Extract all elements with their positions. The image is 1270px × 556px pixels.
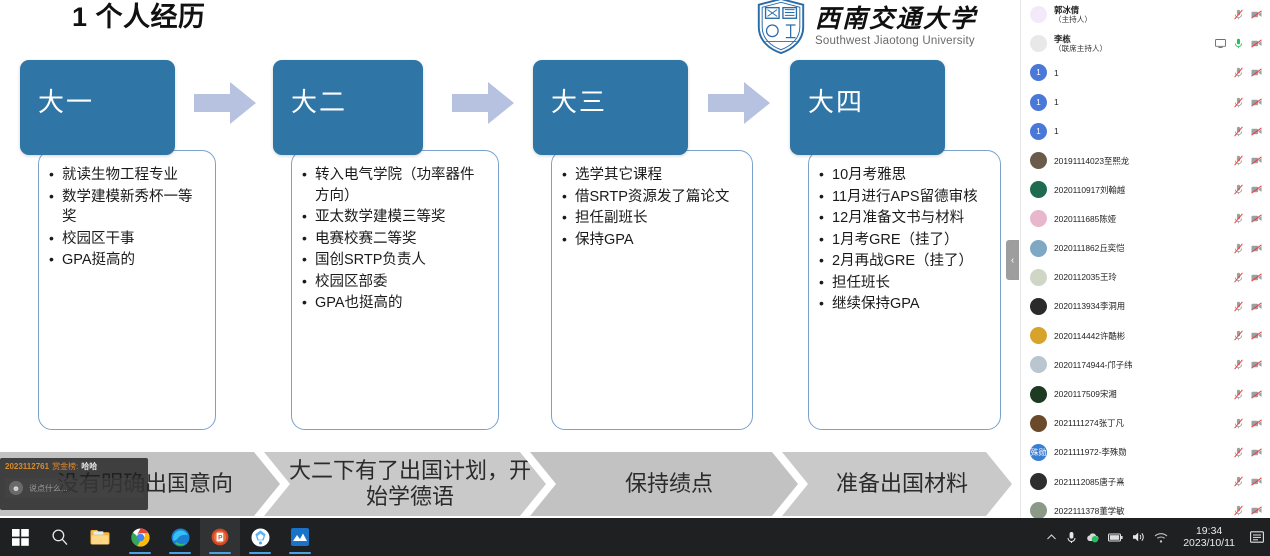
list-item: 选学其它课程 <box>558 165 742 186</box>
microphone-muted-icon[interactable] <box>1233 67 1244 78</box>
camera-off-icon[interactable] <box>1251 418 1262 429</box>
participant-info: 2022111378董学敏 <box>1054 506 1233 516</box>
participant-controls <box>1233 476 1262 487</box>
bounty-rank-name: 哈哈 <box>81 461 97 472</box>
microphone-muted-icon[interactable] <box>1233 272 1244 283</box>
bounty-rank-label: 赏金榜: <box>52 461 78 472</box>
cloud-icon <box>1086 532 1099 543</box>
camera-off-icon[interactable] <box>1251 476 1262 487</box>
clock-date: 2023/10/11 <box>1183 537 1235 549</box>
participant-name: 2020112035王玲 <box>1054 272 1233 282</box>
chevron-banner: 没有明确出国意向 大二下有了出国计划，开始学德语 保持绩点 准备出国材料 <box>0 452 1012 516</box>
arrow-right-icon-1 <box>194 82 256 124</box>
participant-row[interactable]: 2020111862丘奕恺 <box>1021 234 1270 263</box>
arrow-right-icon-2 <box>452 82 514 124</box>
bounty-rank-id: 2023112761 <box>5 462 49 471</box>
chat-input-bar[interactable]: ☻ 说点什么... <box>5 478 143 498</box>
avatar <box>1030 181 1047 198</box>
participant-name: 2020111685陈娅 <box>1054 214 1233 224</box>
microphone-muted-icon[interactable] <box>1233 9 1244 20</box>
participant-name: 李栋 <box>1054 34 1215 44</box>
participant-name: 20201174944-邝子纬 <box>1054 360 1233 370</box>
microphone-muted-icon[interactable] <box>1233 447 1244 458</box>
stage-header-label: 大一 <box>38 82 94 119</box>
search-button[interactable] <box>40 518 80 556</box>
page-title: 1 个人经历 <box>72 0 206 34</box>
tencent-meeting-icon <box>251 528 270 547</box>
participant-name: 2021112085唐子熹 <box>1054 477 1233 487</box>
participant-row[interactable]: 2020114442许酷彬 <box>1021 321 1270 350</box>
svg-text:P: P <box>218 535 223 542</box>
participant-controls <box>1233 67 1262 78</box>
list-item: 12月准备文书与材料 <box>815 208 990 229</box>
participant-controls <box>1233 389 1262 400</box>
avatar <box>1030 6 1047 23</box>
microphone-muted-icon[interactable] <box>1233 184 1244 195</box>
windows-taskbar: P <box>0 518 1270 556</box>
list-item: 1月考GRE（挂了） <box>815 230 990 251</box>
chrome-button[interactable] <box>120 518 160 556</box>
presentation-slide: 1 个人经历 西南交通大学 Southwest Jiaotong Univers… <box>0 0 1012 518</box>
avatar <box>1030 386 1047 403</box>
list-item: GPA挺高的 <box>45 250 205 271</box>
camera-off-icon[interactable] <box>1251 505 1262 516</box>
volume-tray-icon[interactable] <box>1132 531 1145 543</box>
participant-row[interactable]: 殊勋2021111972-李殊勋 <box>1021 438 1270 467</box>
participant-name: 2021111972-李殊勋 <box>1054 447 1233 457</box>
participant-info: 1 <box>1054 97 1233 107</box>
file-explorer-button[interactable] <box>80 518 120 556</box>
participant-name: 2020110917刘翰越 <box>1054 185 1233 195</box>
microphone-tray-icon[interactable] <box>1066 531 1077 544</box>
participant-controls <box>1233 505 1262 516</box>
participant-controls <box>1233 359 1262 370</box>
camera-off-icon[interactable] <box>1251 213 1262 224</box>
participant-info: 2020112035王玲 <box>1054 272 1233 282</box>
participants-sidebar[interactable]: 郭冰倩（主持人）李栋（联席主持人）11111120191114023至熙龙202… <box>1020 0 1270 518</box>
microphone-muted-icon[interactable] <box>1233 505 1244 516</box>
participant-role: （主持人） <box>1054 15 1233 25</box>
avatar <box>1030 356 1047 373</box>
camera-off-icon[interactable] <box>1251 9 1262 20</box>
participant-info: 20191114023至熙龙 <box>1054 156 1233 166</box>
participant-controls <box>1233 9 1262 20</box>
notification-icon <box>1250 531 1264 544</box>
avatar: 1 <box>1030 123 1047 140</box>
stage-header-label: 大三 <box>551 82 607 119</box>
chevron-step-4: 准备出国材料 <box>782 452 1012 516</box>
list-item: 继续保持GPA <box>815 294 990 315</box>
stage-list-4: 10月考雅思 11月进行APS留德审核 12月准备文书与材料 1月考GRE（挂了… <box>815 165 990 315</box>
participant-row[interactable]: 20191114023至熙龙 <box>1021 146 1270 175</box>
avatar <box>1030 152 1047 169</box>
stage-card-body-4: 10月考雅思 11月进行APS留德审核 12月准备文书与材料 1月考GRE（挂了… <box>808 150 1001 430</box>
chevron-step-3: 保持绩点 <box>530 452 798 516</box>
participant-row[interactable]: 11 <box>1021 88 1270 117</box>
participant-row[interactable]: 2020111685陈娅 <box>1021 204 1270 233</box>
participant-row[interactable]: 李栋（联席主持人） <box>1021 29 1270 58</box>
windows-logo-icon <box>12 529 29 546</box>
participant-controls <box>1233 330 1262 341</box>
chevron-label: 大二下有了出国计划，开始学德语 <box>264 458 546 510</box>
taskbar-icons: P <box>0 518 320 556</box>
logo-text-en: Southwest Jiaotong University <box>815 34 977 48</box>
participant-controls <box>1233 272 1262 283</box>
avatar <box>1030 35 1047 52</box>
stage-header-2: 大二 <box>273 60 423 155</box>
edge-icon <box>171 528 190 547</box>
stage-card-body-1: 就读生物工程专业 数学建模新秀杯一等奖 校园区干事 GPA挺高的 <box>38 150 216 430</box>
participant-info: 20201174944-邝子纬 <box>1054 360 1233 370</box>
camera-off-icon[interactable] <box>1251 447 1262 458</box>
list-item: 数学建模新秀杯一等奖 <box>45 187 205 228</box>
avatar <box>1030 327 1047 344</box>
clock[interactable]: 19:34 2023/10/11 <box>1177 525 1241 549</box>
avatar: 1 <box>1030 94 1047 111</box>
stage-card-body-2: 转入电气学院（功率器件方向） 亚太数学建模三等奖 电赛校赛二等奖 国创SRTP负… <box>291 150 499 430</box>
camera-off-icon[interactable] <box>1251 389 1262 400</box>
participant-info: 李栋（联席主持人） <box>1054 34 1215 54</box>
participant-name: 2020117509宋湘 <box>1054 389 1233 399</box>
microphone-muted-icon[interactable] <box>1233 330 1244 341</box>
camera-off-icon[interactable] <box>1251 359 1262 370</box>
participant-name: 2021111274张丁凡 <box>1054 418 1233 428</box>
stage-header-label: 大二 <box>291 82 347 119</box>
participant-name: 2020113934李洞用 <box>1054 301 1233 311</box>
network-tray-icon[interactable] <box>1154 532 1168 543</box>
chevron-up-icon <box>1046 532 1057 543</box>
camera-off-icon[interactable] <box>1251 301 1262 312</box>
stage-card-body-3: 选学其它课程 借SRTP资源发了篇论文 担任副班长 保持GPA <box>551 150 753 430</box>
participant-info: 2020111685陈娅 <box>1054 214 1233 224</box>
camera-off-icon[interactable] <box>1251 38 1262 49</box>
list-item: 10月考雅思 <box>815 165 990 186</box>
system-tray: 19:34 2023/10/11 <box>1046 518 1270 556</box>
chevron-label: 准备出国材料 <box>816 471 978 497</box>
participant-row[interactable]: 2020117509宋湘 <box>1021 379 1270 408</box>
battery-tray-icon[interactable] <box>1108 533 1123 542</box>
participant-controls <box>1233 243 1262 254</box>
participant-name: 2020111862丘奕恺 <box>1054 243 1233 253</box>
participant-controls <box>1233 418 1262 429</box>
chrome-icon <box>131 528 150 547</box>
participant-info: 1 <box>1054 68 1233 78</box>
microphone-muted-icon[interactable] <box>1233 476 1244 487</box>
list-item: 担任副班长 <box>558 208 742 229</box>
camera-off-icon[interactable] <box>1251 97 1262 108</box>
participant-role: （联席主持人） <box>1054 44 1215 54</box>
battery-icon <box>1108 533 1123 542</box>
app-icon <box>291 528 309 546</box>
avatar <box>1030 298 1047 315</box>
avatar: 殊勋 <box>1030 444 1047 461</box>
avatar: 1 <box>1030 64 1047 81</box>
stage-header-1: 大一 <box>20 60 175 155</box>
participant-name: 1 <box>1054 68 1233 78</box>
participant-info: 2020117509宋湘 <box>1054 389 1233 399</box>
participant-row[interactable]: 11 <box>1021 58 1270 87</box>
avatar: ☻ <box>9 481 23 495</box>
stage-list-2: 转入电气学院（功率器件方向） 亚太数学建模三等奖 电赛校赛二等奖 国创SRTP负… <box>298 165 488 314</box>
microphone-muted-icon[interactable] <box>1233 359 1244 370</box>
camera-off-icon[interactable] <box>1251 155 1262 166</box>
participant-row[interactable]: 2021112085唐子熹 <box>1021 467 1270 496</box>
microphone-muted-icon[interactable] <box>1233 97 1244 108</box>
participant-controls <box>1233 301 1262 312</box>
action-center-button[interactable] <box>1250 531 1264 544</box>
list-item: 保持GPA <box>558 230 742 251</box>
tencent-meeting-button[interactable] <box>240 518 280 556</box>
microphone-muted-icon[interactable] <box>1233 418 1244 429</box>
list-item: 就读生物工程专业 <box>45 165 205 186</box>
microphone-muted-icon[interactable] <box>1233 126 1244 137</box>
participant-info: 2020111862丘奕恺 <box>1054 243 1233 253</box>
list-item: GPA也挺高的 <box>298 293 488 314</box>
sidebar-collapse-button[interactable]: ‹ <box>1006 240 1019 280</box>
stage-list-3: 选学其它课程 借SRTP资源发了篇论文 担任副班长 保持GPA <box>558 165 742 250</box>
participant-row[interactable]: 11 <box>1021 117 1270 146</box>
participant-row[interactable]: 2022111378董学敏 <box>1021 496 1270 518</box>
microphone-muted-icon[interactable] <box>1233 243 1244 254</box>
screen: 1 个人经历 西南交通大学 Southwest Jiaotong Univers… <box>0 0 1270 556</box>
shield-icon <box>755 0 807 54</box>
participant-row[interactable]: 20201174944-邝子纬 <box>1021 350 1270 379</box>
participant-controls <box>1215 38 1262 49</box>
start-button[interactable] <box>0 518 40 556</box>
camera-off-icon[interactable] <box>1251 67 1262 78</box>
stage-header-4: 大四 <box>790 60 945 155</box>
participant-info: 郭冰倩（主持人） <box>1054 5 1233 25</box>
avatar <box>1030 415 1047 432</box>
clock-time: 19:34 <box>1183 525 1235 537</box>
list-item: 电赛校赛二等奖 <box>298 229 488 250</box>
chevron-step-2: 大二下有了出国计划，开始学德语 <box>264 452 546 516</box>
microphone-muted-icon[interactable] <box>1233 213 1244 224</box>
participant-controls <box>1233 155 1262 166</box>
participant-info: 2021111972-李殊勋 <box>1054 447 1233 457</box>
list-item: 借SRTP资源发了篇论文 <box>558 187 742 208</box>
arrow-right-icon-3 <box>708 82 770 124</box>
avatar <box>1030 210 1047 227</box>
edge-button[interactable] <box>160 518 200 556</box>
folder-icon <box>90 529 110 546</box>
list-item: 担任班长 <box>815 273 990 294</box>
cloud-sync-tray-icon[interactable] <box>1086 532 1099 543</box>
participant-name: 1 <box>1054 97 1233 107</box>
bounty-rank-row: 2023112761 赏金榜: 哈哈 <box>0 458 148 473</box>
list-item: 亚太数学建模三等奖 <box>298 207 488 228</box>
participant-controls <box>1233 126 1262 137</box>
avatar <box>1030 502 1047 518</box>
participant-row[interactable]: 2020112035王玲 <box>1021 263 1270 292</box>
participant-name: 20191114023至熙龙 <box>1054 156 1233 166</box>
camera-off-icon[interactable] <box>1251 126 1262 137</box>
list-item: 国创SRTP负责人 <box>298 250 488 271</box>
microphone-muted-icon[interactable] <box>1233 389 1244 400</box>
participant-info: 2021112085唐子熹 <box>1054 477 1233 487</box>
camera-off-icon[interactable] <box>1251 243 1262 254</box>
powerpoint-button[interactable]: P <box>200 518 240 556</box>
avatar <box>1030 473 1047 490</box>
participant-name: 郭冰倩 <box>1054 5 1233 15</box>
participant-controls <box>1233 213 1262 224</box>
participant-info: 2020110917刘翰越 <box>1054 185 1233 195</box>
search-icon <box>51 528 69 546</box>
microphone-icon <box>1066 531 1077 544</box>
list-item: 转入电气学院（功率器件方向） <box>298 165 488 206</box>
participant-row[interactable]: 郭冰倩（主持人） <box>1021 0 1270 29</box>
microphone-muted-icon[interactable] <box>1233 301 1244 312</box>
chevron-label: 保持绩点 <box>605 471 723 497</box>
participant-name: 2022111378董学敏 <box>1054 506 1233 516</box>
stage-list-1: 就读生物工程专业 数学建模新秀杯一等奖 校园区干事 GPA挺高的 <box>45 165 205 271</box>
logo-text-cn: 西南交通大学 <box>815 4 977 34</box>
stage-cards: 就读生物工程专业 数学建模新秀杯一等奖 校园区干事 GPA挺高的 大一 <box>0 60 1012 440</box>
speaker-icon <box>1132 531 1145 543</box>
camera-off-icon[interactable] <box>1251 272 1262 283</box>
participant-name: 1 <box>1054 126 1233 136</box>
chat-input[interactable]: 说点什么... <box>29 483 68 494</box>
participant-row[interactable]: 2021111274张丁凡 <box>1021 409 1270 438</box>
list-item: 校园区部委 <box>298 272 488 293</box>
participant-controls <box>1233 447 1262 458</box>
participant-info: 2020114442许酷彬 <box>1054 331 1233 341</box>
participant-controls <box>1233 184 1262 195</box>
camera-off-icon[interactable] <box>1251 330 1262 341</box>
live-chat-overlay: 2023112761 赏金榜: 哈哈 ☻ 说点什么... <box>0 458 148 510</box>
avatar <box>1030 269 1047 286</box>
screen-share-icon[interactable] <box>1215 38 1226 49</box>
app-button[interactable] <box>280 518 320 556</box>
list-item: 校园区干事 <box>45 229 205 250</box>
stage-header-label: 大四 <box>808 82 864 119</box>
participant-info: 2020113934李洞用 <box>1054 301 1233 311</box>
participant-row[interactable]: 2020110917刘翰越 <box>1021 175 1270 204</box>
powerpoint-icon: P <box>211 528 229 546</box>
stage-header-3: 大三 <box>533 60 688 155</box>
chevron-left-icon: ‹ <box>1011 255 1014 266</box>
participant-info: 2021111274张丁凡 <box>1054 418 1233 428</box>
camera-off-icon[interactable] <box>1251 184 1262 195</box>
avatar <box>1030 240 1047 257</box>
show-hidden-icons-button[interactable] <box>1046 532 1057 543</box>
participant-name: 2020114442许酷彬 <box>1054 331 1233 341</box>
list-item: 2月再战GRE（挂了） <box>815 251 990 272</box>
participant-controls <box>1233 97 1262 108</box>
microphone-on-icon[interactable] <box>1233 38 1244 49</box>
list-item: 11月进行APS留德审核 <box>815 187 990 208</box>
microphone-muted-icon[interactable] <box>1233 155 1244 166</box>
wifi-icon <box>1154 532 1168 543</box>
university-logo: 西南交通大学 Southwest Jiaotong University <box>755 0 977 54</box>
participant-info: 1 <box>1054 126 1233 136</box>
participant-row[interactable]: 2020113934李洞用 <box>1021 292 1270 321</box>
